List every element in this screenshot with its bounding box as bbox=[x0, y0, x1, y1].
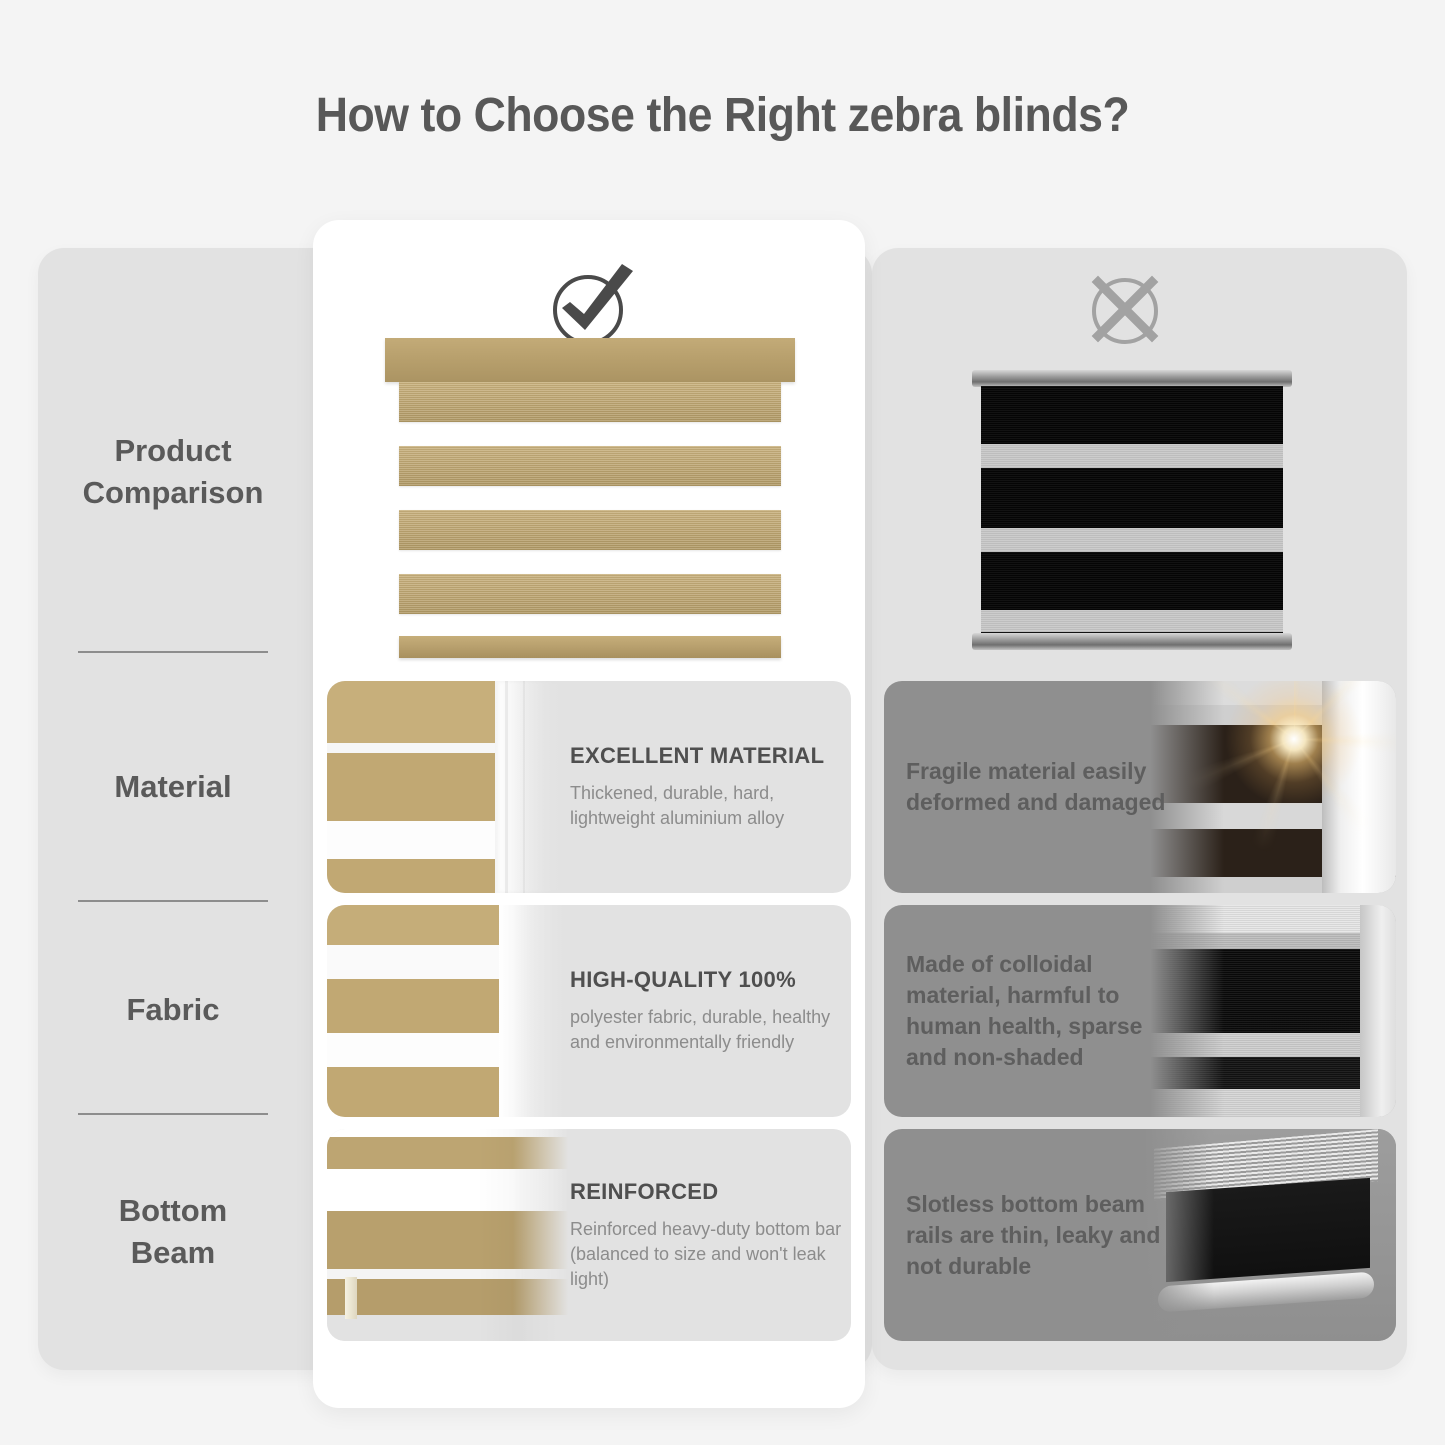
blind-band bbox=[399, 574, 781, 614]
card-body: polyester fabric, durable, healthy and e… bbox=[570, 1005, 851, 1055]
black-blind-sparse-fabric-photo bbox=[1144, 905, 1396, 1117]
card-body: Reinforced heavy-duty bottom bar (balanc… bbox=[570, 1217, 851, 1292]
feature-card-material-bad: Fragile material easily deformed and dam… bbox=[884, 681, 1396, 893]
row-label-line2: Beam bbox=[62, 1232, 284, 1274]
bottom-bar-end-cap bbox=[345, 1277, 357, 1319]
card-text-block: REINFORCED Reinforced heavy-duty bottom … bbox=[570, 1129, 851, 1341]
row-divider-1 bbox=[78, 651, 268, 653]
window-frame bbox=[1360, 905, 1396, 1117]
feature-card-bottom-beam-bad: Slotless bottom beam rails are thin, lea… bbox=[884, 1129, 1396, 1341]
thin-bottom-rail-photo bbox=[1144, 1129, 1396, 1341]
feature-card-fabric-good: HIGH-QUALITY 100% polyester fabric, dura… bbox=[327, 905, 851, 1117]
card-text-block: EXCELLENT MATERIAL Thickened, durable, h… bbox=[570, 681, 851, 893]
sun-flare-light-leak-photo bbox=[1144, 681, 1396, 893]
row-label-line1: Material bbox=[62, 766, 284, 808]
row-divider-2 bbox=[78, 900, 268, 902]
blind-bottom-rail bbox=[972, 633, 1292, 650]
row-label-line1: Bottom bbox=[62, 1190, 284, 1232]
photo-fade bbox=[513, 1129, 573, 1341]
feature-card-material-good: EXCELLENT MATERIAL Thickened, durable, h… bbox=[327, 681, 851, 893]
row-label-material: Material bbox=[62, 766, 284, 808]
row-divider-3 bbox=[78, 1113, 268, 1115]
cross-circle-icon bbox=[1082, 268, 1168, 359]
row-label-fabric: Fabric bbox=[62, 989, 284, 1031]
feature-card-fabric-bad: Made of colloidal material, harmful to h… bbox=[884, 905, 1396, 1117]
blind-headrail bbox=[385, 338, 795, 382]
card-heading: EXCELLENT MATERIAL bbox=[570, 743, 851, 769]
hero-tan-zebra-blind bbox=[385, 338, 795, 666]
tan-bottom-bar-photo bbox=[327, 1129, 573, 1341]
hero-black-zebra-blind bbox=[972, 370, 1292, 650]
row-label-line2: Comparison bbox=[62, 472, 284, 514]
row-label-line1: Product bbox=[62, 430, 284, 472]
blind-top-rail bbox=[972, 370, 1292, 387]
card-text-block: HIGH-QUALITY 100% polyester fabric, dura… bbox=[570, 905, 851, 1117]
card-body: Thickened, durable, hard, lightweight al… bbox=[570, 781, 851, 831]
blind-band bbox=[399, 446, 781, 486]
tan-blind-window-frame-photo bbox=[327, 681, 573, 893]
card-text: Fragile material easily deformed and dam… bbox=[906, 681, 1176, 893]
page-title: How to Choose the Right zebra blinds? bbox=[51, 88, 1395, 143]
blind-bottom-bar bbox=[399, 636, 781, 658]
blind-band bbox=[399, 382, 781, 422]
card-heading: HIGH-QUALITY 100% bbox=[570, 967, 851, 993]
blind-band bbox=[399, 510, 781, 550]
row-label-bottom-beam: Bottom Beam bbox=[62, 1190, 284, 1274]
fabric-texture bbox=[981, 386, 1283, 635]
tan-blind-fabric-photo bbox=[327, 905, 573, 1117]
feature-card-bottom-beam-good: REINFORCED Reinforced heavy-duty bottom … bbox=[327, 1129, 851, 1341]
card-text: Slotless bottom beam rails are thin, lea… bbox=[906, 1129, 1176, 1341]
infographic-root: How to Choose the Right zebra blinds? Pr… bbox=[0, 0, 1445, 1445]
blind-fabric bbox=[981, 386, 1283, 635]
photo-fade bbox=[513, 905, 573, 1117]
sun-flare bbox=[1199, 681, 1389, 834]
row-label-line1: Fabric bbox=[62, 989, 284, 1031]
card-heading: REINFORCED bbox=[570, 1179, 851, 1205]
photo-fade bbox=[513, 681, 573, 893]
card-text: Made of colloidal material, harmful to h… bbox=[906, 905, 1176, 1117]
row-label-product-comparison: Product Comparison bbox=[62, 430, 284, 514]
